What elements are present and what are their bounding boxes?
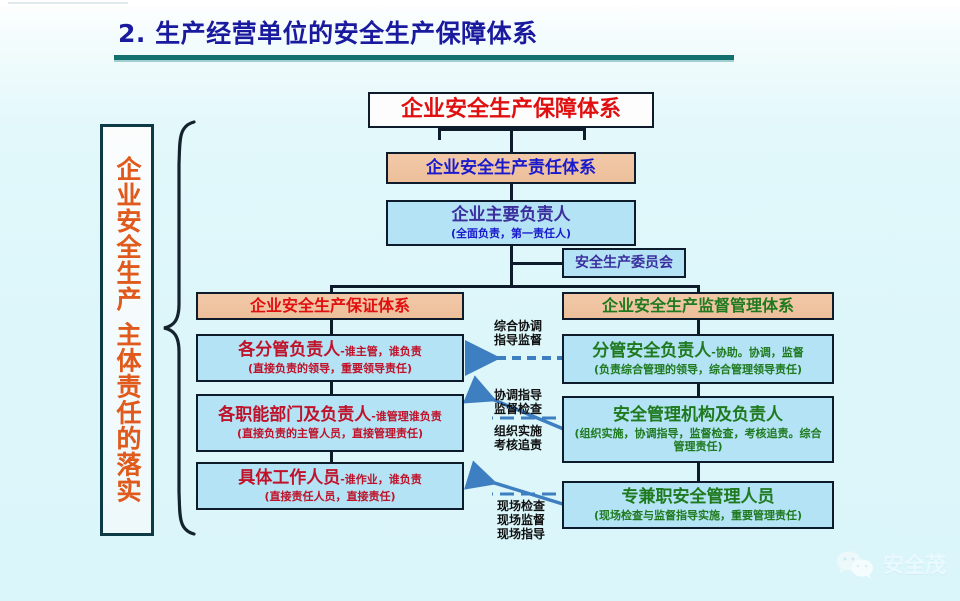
box-safety-committee[interactable]: 安全生产委员会 [562, 248, 686, 278]
connector-root-to-responsibility [510, 128, 513, 152]
connector-right-header-to-item1 [697, 320, 700, 334]
annotation-4-line2: 现场监督 [481, 514, 561, 528]
box-left-column-header-label: 企业安全生产保证体系 [250, 297, 410, 316]
box-left-item-2-tag: -谁管理谁负责 [371, 411, 442, 424]
annotation-4: 现场检查 现场监督 现场指导 [481, 500, 561, 541]
annotation-3-line1: 组织实施 [481, 425, 555, 439]
annotation-3-line2: 考核追责 [481, 439, 555, 453]
box-right-item-1-main: 分管安全负责人 [592, 341, 711, 361]
box-left-item-2[interactable]: 各职能部门及负责人 -谁管理谁负责 (直接负责的主管人员，直接管理责任) [196, 394, 464, 452]
box-right-item-1-tag: -协助。协调，监督 [711, 347, 804, 360]
watermark-text: 安全茂 [883, 549, 946, 579]
box-right-item-3[interactable]: 专兼职安全管理人员 (现场检查与监督指导实施，重要管理责任) [562, 481, 834, 529]
box-right-item-2[interactable]: 安全管理机构及负责人 (组织实施，协调指导，监督检查，考核追责。综合管理责任) [562, 396, 834, 463]
box-left-item-1-tag: -谁主管，谁负责 [340, 346, 422, 359]
annotation-2: 协调指导 监督检查 [481, 389, 555, 417]
connector-right-item1-to-item2 [697, 384, 700, 396]
side-label-text: 企业安全生产 主体责任的落实 [109, 156, 145, 504]
connector-left-item2-to-item3 [330, 452, 333, 462]
connector-principal-down [510, 246, 513, 288]
box-right-item-2-note: (组织实施，协调指导，监督检查，考核追责。综合管理责任) [572, 428, 824, 454]
box-left-item-1-note: (直接负责的领导，重要领导责任) [248, 363, 412, 376]
box-safety-committee-label: 安全生产委员会 [575, 255, 673, 272]
annotation-3: 组织实施 考核追责 [481, 425, 555, 453]
annotation-2-line2: 监督检查 [481, 403, 555, 417]
box-right-item-1[interactable]: 分管安全负责人 -协助。协调，监督 (负责综合管理的领导，综合管理领导责任) [562, 334, 834, 384]
box-root-system-label: 企业安全生产保障体系 [401, 97, 621, 123]
box-left-item-3-tag: -谁作业，谁负责 [340, 474, 422, 487]
annotation-2-line1: 协调指导 [481, 389, 555, 403]
connector-split-bar [330, 285, 700, 288]
connector-left-header-to-item1 [330, 320, 333, 334]
connector-root-shoulder-left [438, 128, 441, 140]
box-root-system[interactable]: 企业安全生产保障体系 [368, 92, 654, 128]
connector-right-item2-to-item3 [697, 463, 700, 481]
annotation-1-line2: 指导监督 [481, 334, 555, 348]
box-left-item-2-note: (直接负责的主管人员，直接管理责任) [237, 428, 423, 441]
annotation-4-line1: 现场检查 [481, 500, 561, 514]
annotation-1-line1: 综合协调 [481, 320, 555, 334]
page-title: 2. 生产经营单位的安全生产保障体系 [118, 14, 538, 50]
connector-principal-to-committee [510, 262, 562, 265]
connector-root-shoulder [438, 128, 586, 131]
box-right-column-header-label: 企业安全生产监督管理体系 [602, 297, 794, 316]
watermark: 安全茂 [835, 549, 946, 579]
box-responsibility-system[interactable]: 企业安全生产责任体系 [386, 152, 636, 184]
box-left-item-1-main: 各分管负责人 [238, 340, 340, 360]
box-left-item-1[interactable]: 各分管负责人 -谁主管，谁负责 (直接负责的领导，重要领导责任) [196, 334, 464, 382]
box-left-item-3-main: 具体工作人员 [238, 468, 340, 488]
annotation-1: 综合协调 指导监督 [481, 320, 555, 348]
connector-root-shoulder-right [583, 128, 586, 140]
box-left-item-3-note: (直接责任人员，直接责任) [264, 491, 395, 504]
box-right-item-3-main: 专兼职安全管理人员 [622, 487, 775, 507]
box-principal[interactable]: 企业主要负责人 (全面负责，第一责任人) [386, 200, 636, 246]
box-left-item-2-main: 各职能部门及负责人 [218, 405, 371, 425]
wechat-icon [835, 549, 875, 579]
box-right-column-header[interactable]: 企业安全生产监督管理体系 [562, 292, 834, 320]
slide-canvas: 2. 生产经营单位的安全生产保障体系 企业安全生产 主体责任的落实 [0, 0, 960, 601]
box-responsibility-system-label: 企业安全生产责任体系 [426, 158, 596, 178]
connector-left-item1-to-item2 [330, 382, 333, 394]
side-label-vertical: 企业安全生产 主体责任的落实 [100, 124, 154, 536]
box-principal-title: 企业主要负责人 [452, 205, 571, 225]
title-underline-secondary [114, 60, 734, 62]
box-left-column-header[interactable]: 企业安全生产保证体系 [196, 292, 464, 320]
box-principal-note: (全面负责，第一责任人) [451, 228, 571, 241]
annotation-4-line3: 现场指导 [481, 528, 561, 542]
box-left-item-3[interactable]: 具体工作人员 -谁作业，谁负责 (直接责任人员，直接责任) [196, 462, 464, 510]
top-strip [0, 0, 960, 6]
box-right-item-2-main: 安全管理机构及负责人 [613, 405, 783, 425]
box-right-item-3-note: (现场检查与监督指导实施，重要管理责任) [594, 510, 802, 523]
connector-responsibility-to-principal [510, 183, 513, 201]
box-right-item-1-note: (负责综合管理的领导，综合管理领导责任) [594, 364, 802, 377]
